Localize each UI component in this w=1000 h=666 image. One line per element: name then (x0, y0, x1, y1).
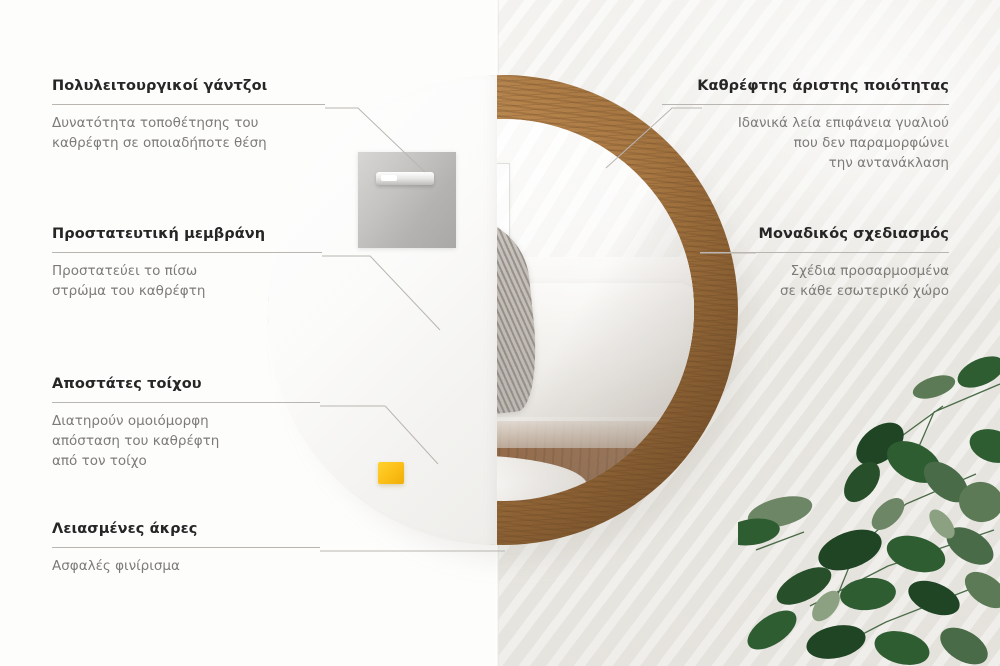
callout-unique-design-rule (700, 252, 949, 253)
callout-unique-design-body: Σχέδια προσαρμοσμένα σε κάθε εσωτερικό χ… (700, 262, 949, 302)
callout-spacers-title: Αποστάτες τοίχου (52, 376, 320, 393)
callout-hooks-title: Πολυλειτουργικοί γάντζοι (52, 78, 325, 95)
infographic-canvas: Πολυλειτουργικοί γάντζοι Δυνατότητα τοπο… (0, 0, 1000, 666)
callout-spacers-rule (52, 402, 320, 403)
callout-edges: Λειασμένες άκρες Ασφαλές φινίρισμα (52, 521, 320, 577)
callout-edges-rule (52, 547, 320, 548)
callout-hooks-body: Δυνατότητα τοποθέτησης του καθρέφτη σε ο… (52, 114, 325, 154)
callout-membrane: Προστατευτική μεμβράνη Προστατεύει το πί… (52, 226, 322, 302)
hook-bracket-icon (376, 172, 434, 185)
callout-spacers: Αποστάτες τοίχου Διατηρούν ομοιόμορφη απ… (52, 376, 320, 472)
callout-membrane-body: Προστατεύει το πίσω στρώμα του καθρέφτη (52, 262, 322, 302)
callout-edges-title: Λειασμένες άκρες (52, 521, 320, 538)
callout-unique-design-title: Μοναδικός σχεδιασμός (700, 226, 949, 243)
callout-quality-mirror-rule (662, 104, 949, 105)
plant-foliage (738, 354, 1000, 666)
callout-unique-design: Μοναδικός σχεδιασμός Σχέδια προσαρμοσμέν… (700, 226, 949, 302)
callout-membrane-title: Προστατευτική μεμβράνη (52, 226, 322, 243)
callout-membrane-rule (52, 252, 322, 253)
callout-edges-body: Ασφαλές φινίρισμα (52, 557, 320, 577)
callout-spacers-body: Διατηρούν ομοιόμορφη απόσταση του καθρέφ… (52, 412, 320, 472)
callout-hooks: Πολυλειτουργικοί γάντζοι Δυνατότητα τοπο… (52, 78, 325, 154)
callout-quality-mirror: Καθρέφτης άριστης ποιότητας Ιδανικά λεία… (662, 78, 949, 174)
wall-spacer-part (378, 462, 404, 484)
hook-panel-part (358, 152, 456, 248)
callout-quality-mirror-title: Καθρέφτης άριστης ποιότητας (662, 78, 949, 95)
callout-quality-mirror-body: Ιδανικά λεία επιφάνεια γυαλιού που δεν π… (662, 114, 949, 174)
callout-hooks-rule (52, 104, 325, 105)
